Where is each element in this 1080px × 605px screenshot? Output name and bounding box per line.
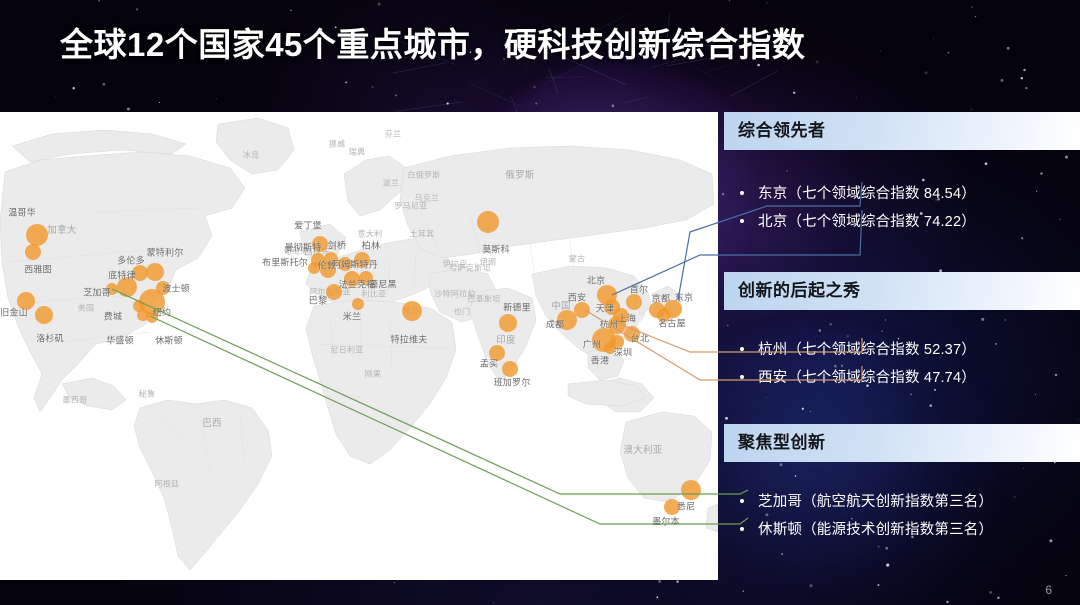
city-label: 京都 <box>652 292 670 305</box>
country-label: 尼日利亚 <box>330 345 363 356</box>
city-label: 巴黎 <box>309 294 327 307</box>
country-label: 巴基斯坦 <box>467 294 500 305</box>
world-map-panel: 加拿大美国墨西哥巴西秘鲁阿根廷冰岛芬兰瑞典挪威波兰白俄罗斯乌克兰罗马尼亚意大利西… <box>0 112 718 580</box>
city-label: 多伦多 <box>117 254 145 267</box>
city-label: 剑桥 <box>328 239 346 252</box>
legend-item-chicago[interactable]: 芝加哥（航空航天创新指数第三名） <box>740 490 993 511</box>
country-label: 罗马尼亚 <box>394 201 427 212</box>
city-marker-dot[interactable] <box>25 244 41 260</box>
country-label: 俄罗斯 <box>505 167 534 181</box>
country-label: 伊拉克 <box>443 259 468 270</box>
city-label: 特拉维夫 <box>391 333 428 346</box>
section-header-overall-leaders: 综合领先者 <box>724 112 1080 150</box>
city-label: 法兰克福 <box>339 278 376 291</box>
city-label: 爱丁堡 <box>294 219 322 232</box>
city-label: 纽约 <box>153 306 171 319</box>
city-label: 西安 <box>568 291 586 304</box>
city-label: 米兰 <box>343 310 361 323</box>
city-label: 东京 <box>675 291 693 304</box>
city-label: 底特律 <box>108 269 136 282</box>
city-label: 成都 <box>546 318 564 331</box>
country-label: 也门 <box>454 307 471 318</box>
country-label: 秘鲁 <box>139 389 156 400</box>
country-label: 伊朗 <box>480 257 497 268</box>
bullet-dot-icon <box>740 375 744 379</box>
city-label: 北京 <box>587 274 605 287</box>
legend-item-label: 北京（七个领域综合指数 74.22） <box>758 214 976 230</box>
bullet-dot-icon <box>740 191 744 195</box>
country-label: 加拿大 <box>47 222 76 236</box>
city-label: 布里斯托尔 <box>262 256 308 269</box>
city-label: 香港 <box>591 354 609 367</box>
city-label: 洛杉矶 <box>36 332 64 345</box>
city-label: 柏林 <box>362 239 380 252</box>
city-marker-dot[interactable] <box>352 298 364 310</box>
city-marker-dot[interactable] <box>626 294 642 310</box>
country-label: 土耳其 <box>410 229 435 240</box>
city-marker-dot[interactable] <box>26 224 48 246</box>
bullet-dot-icon <box>740 347 744 351</box>
legend-item-beijing[interactable]: 北京（七个领域综合指数 74.22） <box>740 210 976 231</box>
city-label: 广州 <box>583 338 601 351</box>
country-label: 蒙古 <box>569 254 586 265</box>
city-label: 新德里 <box>503 301 531 314</box>
city-label: 蒙特利尔 <box>147 246 184 259</box>
city-label: 温哥华 <box>8 206 36 219</box>
city-label: 阿姆斯特丹 <box>332 258 378 271</box>
country-label: 墨西哥 <box>63 395 88 406</box>
country-label: 挪威 <box>329 139 346 150</box>
city-label: 悉尼 <box>677 500 695 513</box>
city-label: 杭州 <box>600 318 618 331</box>
city-label: 班加罗尔 <box>494 376 531 389</box>
city-marker-dot[interactable] <box>477 211 499 233</box>
section-header-focused-innovation: 聚焦型创新 <box>724 424 1080 462</box>
city-label: 台北 <box>631 332 649 345</box>
country-label: 瑞典 <box>349 147 366 158</box>
country-label: 刚果 <box>365 369 382 380</box>
legend-item-label: 杭州（七个领域综合指数 52.37） <box>758 342 976 358</box>
legend-item-label: 东京（七个领域综合指数 84.54） <box>758 186 976 202</box>
legend-item-label: 休斯顿（能源技术创新指数第三名） <box>758 522 993 538</box>
city-label: 芝加哥 <box>83 286 111 299</box>
city-marker-dot[interactable] <box>499 314 517 332</box>
city-label: 墨尔本 <box>652 515 680 528</box>
city-label: 旧金山 <box>0 306 28 319</box>
city-marker-dot[interactable] <box>402 301 422 321</box>
city-label: 费城 <box>104 310 122 323</box>
city-marker-dot[interactable] <box>681 480 701 500</box>
city-label: 名古屋 <box>658 317 686 330</box>
country-label: 澳大利亚 <box>623 442 662 456</box>
section-header-rising-innovators: 创新的后起之秀 <box>724 272 1080 310</box>
country-label: 巴西 <box>202 415 222 429</box>
country-label: 美国 <box>78 303 95 314</box>
legend-item-label: 芝加哥（航空航天创新指数第三名） <box>758 494 993 510</box>
legend-item-xian[interactable]: 西安（七个领域综合指数 47.74） <box>740 366 976 387</box>
page-title: 全球12个国家45个重点城市，硬科技创新综合指数 <box>60 15 1020 75</box>
city-label: 孟买 <box>480 357 498 370</box>
country-label: 白俄罗斯 <box>407 170 440 181</box>
city-label: 深圳 <box>614 346 632 359</box>
bullet-dot-icon <box>740 499 744 503</box>
city-marker-dot[interactable] <box>35 306 53 324</box>
legend-item-label: 西安（七个领域综合指数 47.74） <box>758 370 976 386</box>
city-label: 华盛顿 <box>106 334 134 347</box>
city-label: 休斯顿 <box>155 334 183 347</box>
city-label: 首尔 <box>630 283 648 296</box>
legend-item-tokyo[interactable]: 东京（七个领域综合指数 84.54） <box>740 182 976 203</box>
city-label: 西雅图 <box>24 263 52 276</box>
city-marker-dot[interactable] <box>146 263 164 281</box>
legend-item-hangzhou[interactable]: 杭州（七个领域综合指数 52.37） <box>740 338 976 359</box>
city-label: 上海 <box>618 312 636 325</box>
city-label: 曼彻斯特 <box>285 241 322 254</box>
bullet-dot-icon <box>740 219 744 223</box>
bullet-dot-icon <box>740 527 744 531</box>
country-label: 印度 <box>496 332 516 346</box>
country-label: 阿根廷 <box>155 479 180 490</box>
legend-item-houston[interactable]: 休斯顿（能源技术创新指数第三名） <box>740 518 993 539</box>
page-number: 6 <box>1045 583 1052 597</box>
city-label: 天津 <box>596 302 614 315</box>
country-label: 芬兰 <box>385 129 402 140</box>
city-label: 莫斯科 <box>482 243 510 256</box>
country-label: 冰岛 <box>243 150 260 161</box>
country-label: 波兰 <box>383 178 400 189</box>
legend-panel: 综合领先者 东京（七个领域综合指数 84.54） 北京（七个领域综合指数 74.… <box>724 112 1080 580</box>
city-label: 波士顿 <box>162 282 190 295</box>
